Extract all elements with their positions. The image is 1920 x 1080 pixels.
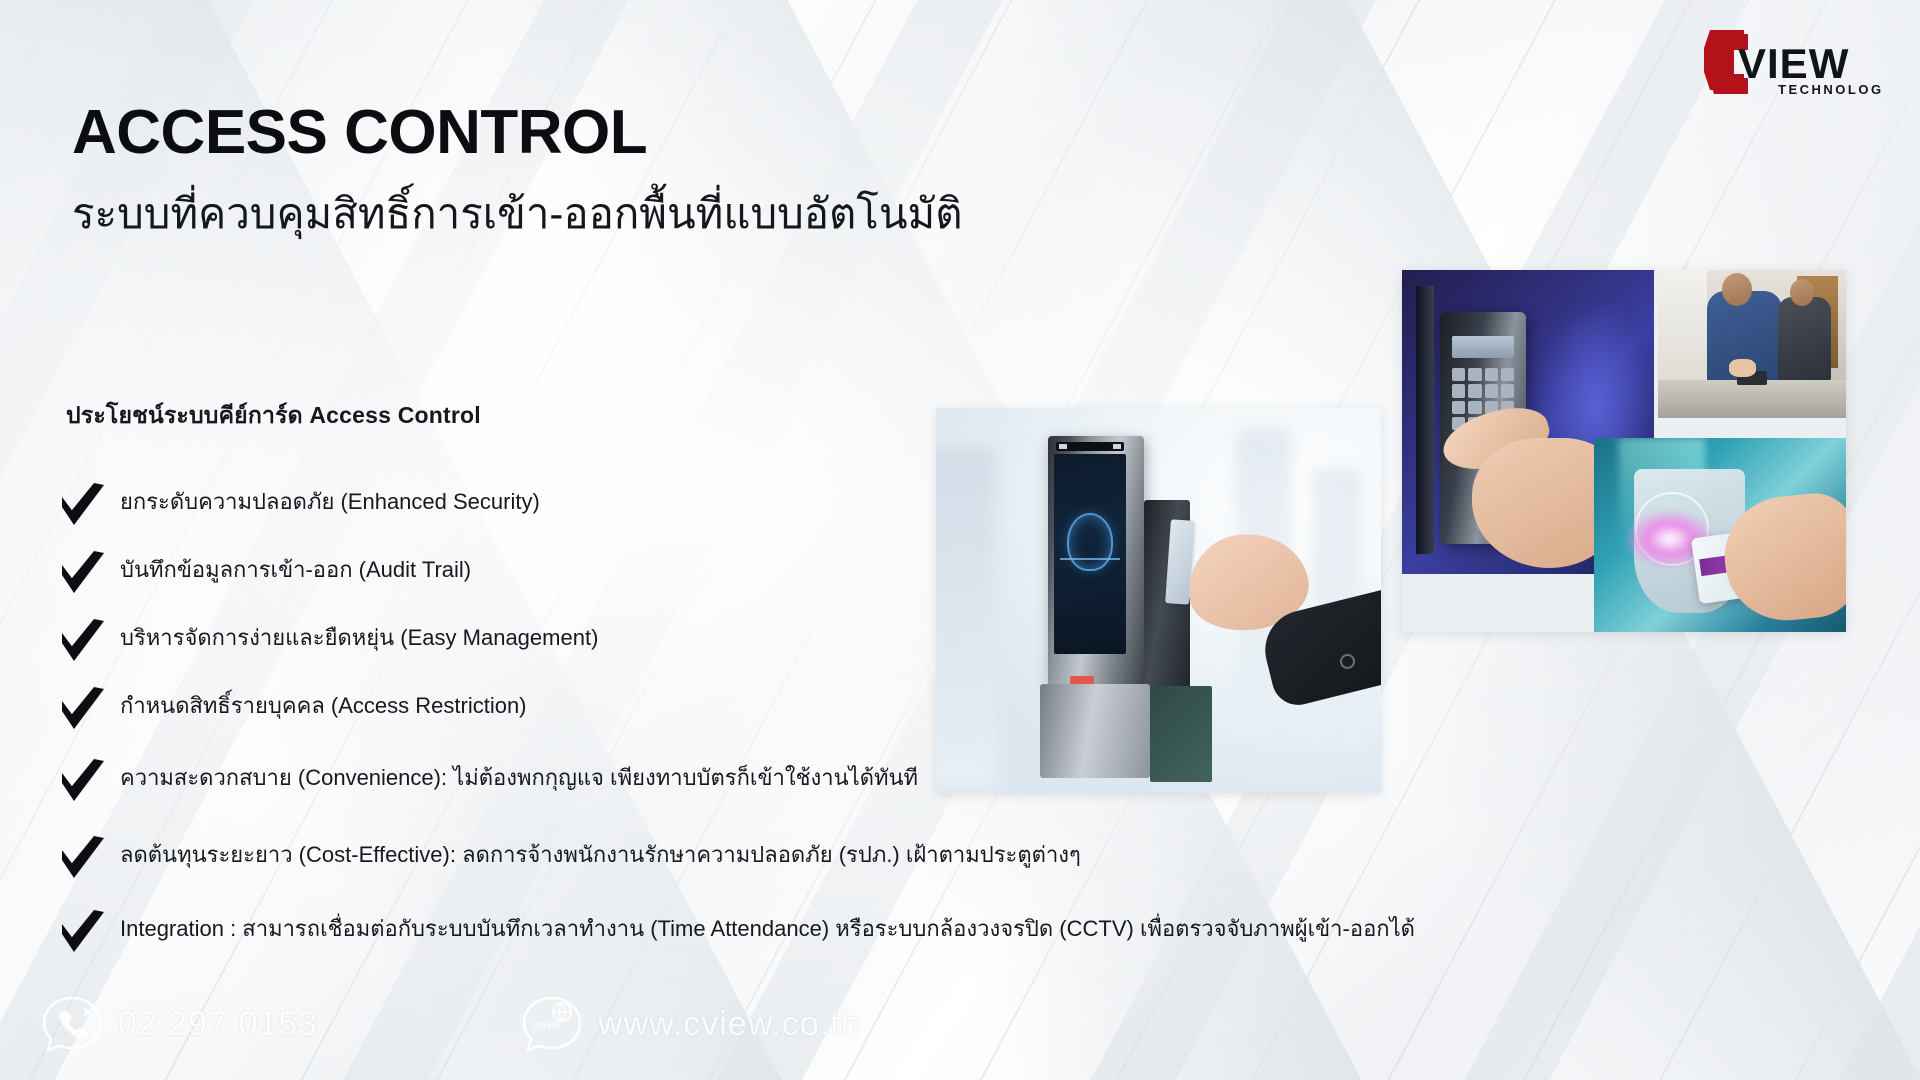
checkmark-icon xyxy=(60,910,106,952)
list-item-label: บันทึกข้อมูลการเข้า-ออก (Audit Trail) xyxy=(120,556,471,585)
benefits-heading: ประโยชน์ระบบคีย์การ์ด Access Control xyxy=(66,398,481,434)
checkmark-icon xyxy=(60,619,106,661)
photo-card-tap-reader: hand-holding-card-at-hitech-reader xyxy=(1594,438,1846,632)
logo-word-technology: TECHNOLOGY xyxy=(1778,82,1884,97)
checkmark-icon xyxy=(60,836,106,878)
cview-logo-icon: VIEW TECHNOLOGY xyxy=(1704,26,1884,102)
photo-collage: fingerprint-scanner-terminal men-tapping… xyxy=(1402,270,1846,632)
checkmark-icon xyxy=(60,483,106,525)
list-item-label: Integration : สามารถเชื่อมต่อกับระบบบันท… xyxy=(120,915,1415,944)
footer-website[interactable]: www www.cview.co.th xyxy=(520,992,861,1056)
checkmark-icon xyxy=(60,687,106,729)
list-item: ลดต้นทุนระยะยาว (Cost-Effective): ลดการจ… xyxy=(60,816,1700,894)
list-item-label: ลดต้นทุนระยะยาว (Cost-Effective): ลดการจ… xyxy=(120,841,1081,870)
list-item: ความสะดวกสบาย (Convenience): ไม่ต้องพกกุ… xyxy=(60,740,1700,816)
list-item-label: บริหารจัดการง่ายและยืดหยุ่น (Easy Manage… xyxy=(120,624,598,653)
list-item-label: กำหนดสิทธิ์รายบุคคล (Access Restriction) xyxy=(120,692,527,721)
checkmark-icon xyxy=(60,551,106,593)
page-subtitle: ระบบที่ควบคุมสิทธิ์การเข้า-ออกพื้นที่แบบ… xyxy=(72,188,963,241)
globe-www-icon: www xyxy=(520,992,584,1056)
list-item: กำหนดสิทธิ์รายบุคคล (Access Restriction) xyxy=(60,672,1700,740)
cview-logo: VIEW TECHNOLOGY C VIEW TECHNOLOGY xyxy=(1704,26,1884,102)
list-item: Integration : สามารถเชื่อมต่อกับระบบบันท… xyxy=(60,894,1700,964)
checkmark-icon xyxy=(60,759,106,801)
photo-turnstile-entry: men-tapping-card-at-turnstile xyxy=(1658,270,1846,418)
footer-website-url: www.cview.co.th xyxy=(598,1005,861,1044)
page-title: ACCESS CONTROL xyxy=(72,102,647,164)
photo-face-recognition-terminal: face-recognition-terminal-hand-tapping-c… xyxy=(936,408,1381,793)
footer-phone[interactable]: 02 297 0153 xyxy=(40,992,318,1056)
footer-phone-number: 02 297 0153 xyxy=(118,1005,318,1044)
list-item-label: ยกระดับความปลอดภัย (Enhanced Security) xyxy=(120,488,540,517)
list-item-label: ความสะดวกสบาย (Convenience): ไม่ต้องพกกุ… xyxy=(120,764,918,793)
footer-bar: 02 297 0153 www www.cview.co.th xyxy=(0,970,1920,1080)
phone-icon xyxy=(40,992,104,1056)
slide-canvas: VIEW TECHNOLOGY C VIEW TECHNOLOGY ACCESS… xyxy=(0,0,1920,1080)
www-badge-text: www xyxy=(533,1017,560,1031)
logo-word-view: VIEW xyxy=(1738,40,1849,87)
